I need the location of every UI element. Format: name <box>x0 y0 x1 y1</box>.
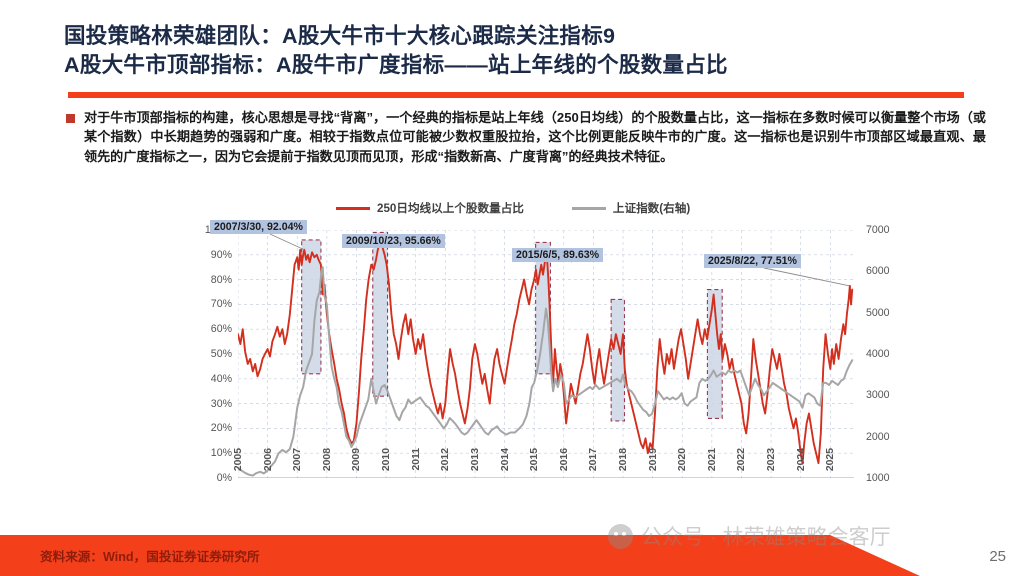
x-axis-tick: 2021 <box>707 448 718 471</box>
y-left-tick: 10% <box>211 447 232 459</box>
chart-annotation-label: 2025/8/22, 77.51% <box>704 254 801 268</box>
x-axis-tick: 2006 <box>263 448 274 471</box>
body-paragraph-block: 对于牛市顶部指标的构建，核心思想是寻找“背离”，一个经典的指标是站上年线（250… <box>66 108 986 166</box>
x-axis-tick: 2020 <box>677 448 688 471</box>
legend-label: 上证指数(右轴) <box>613 200 690 216</box>
highlight-region <box>611 299 624 421</box>
y-left-tick: 90% <box>211 249 232 261</box>
y-left-tick: 0% <box>217 472 232 484</box>
y-axis-right: 1000200030004000500060007000 <box>856 230 916 478</box>
x-axis-tick: 2017 <box>588 448 599 471</box>
y-left-tick: 50% <box>211 348 232 360</box>
y-right-tick: 2000 <box>866 431 890 443</box>
legend-item-2: 上证指数(右轴) <box>572 200 690 216</box>
chart-annotation-label: 2009/10/23, 95.66% <box>342 234 445 248</box>
legend-item-1: 250日均线以上个股数量占比 <box>336 200 524 216</box>
title-line-1: 国投策略林荣雄团队：A股大牛市十大核心跟踪关注指标9 <box>64 22 984 51</box>
chart-plot-area: 0%10%20%30%40%50%60%70%80%90%100% 100020… <box>196 230 956 478</box>
legend-swatch-icon <box>572 207 606 210</box>
y-right-tick: 5000 <box>866 307 890 319</box>
x-axis-tick: 2013 <box>470 448 481 471</box>
square-bullet-icon <box>66 114 75 123</box>
footer: 资料来源：Wind，国投证券证券研究所 25 <box>0 535 1024 576</box>
y-left-tick: 80% <box>211 274 232 286</box>
chart-legend: 250日均线以上个股数量占比上证指数(右轴) <box>336 200 690 216</box>
x-axis-tick: 2009 <box>351 448 362 471</box>
x-axis-tick: 2007 <box>292 448 303 471</box>
x-axis-tick: 2018 <box>618 448 629 471</box>
y-right-tick: 6000 <box>866 265 890 277</box>
x-axis-tick: 2005 <box>233 448 244 471</box>
chart-annotation-label: 2007/3/30, 92.04% <box>210 220 307 234</box>
x-axis-tick: 2023 <box>766 448 777 471</box>
legend-swatch-icon <box>336 207 370 210</box>
page-title: 国投策略林荣雄团队：A股大牛市十大核心跟踪关注指标9 A股大牛市顶部指标：A股牛… <box>64 22 984 80</box>
y-axis-left: 0%10%20%30%40%50%60%70%80%90%100% <box>196 230 236 478</box>
footer-source-text: 资料来源：Wind，国投证券证券研究所 <box>40 546 260 565</box>
slide-root: 国投策略林荣雄团队：A股大牛市十大核心跟踪关注指标9 A股大牛市顶部指标：A股牛… <box>0 0 1024 576</box>
y-left-tick: 40% <box>211 373 232 385</box>
title-line-2: A股大牛市顶部指标：A股牛市广度指标——站上年线的个股数量占比 <box>64 51 984 80</box>
legend-label: 250日均线以上个股数量占比 <box>377 200 524 216</box>
x-axis-tick: 2025 <box>825 448 836 471</box>
body-paragraph-text: 对于牛市顶部指标的构建，核心思想是寻找“背离”，一个经典的指标是站上年线（250… <box>84 108 986 166</box>
page-number: 25 <box>989 548 1006 565</box>
x-axis-tick: 2015 <box>529 448 540 471</box>
x-axis-tick: 2022 <box>736 448 747 471</box>
x-axis: 2005200620072008200920102011201220132014… <box>238 446 854 510</box>
x-axis-tick: 2008 <box>322 448 333 471</box>
y-right-tick: 7000 <box>866 224 890 236</box>
y-left-tick: 60% <box>211 323 232 335</box>
chart: 250日均线以上个股数量占比上证指数(右轴) 0%10%20%30%40%50%… <box>196 196 956 516</box>
y-right-tick: 3000 <box>866 389 890 401</box>
y-left-tick: 30% <box>211 398 232 410</box>
x-axis-tick: 2010 <box>381 448 392 471</box>
x-axis-tick: 2014 <box>500 448 511 471</box>
chart-annotation-label: 2015/6/5, 89.63% <box>512 248 603 262</box>
x-axis-tick: 2011 <box>411 448 422 471</box>
x-axis-tick: 2016 <box>559 448 570 471</box>
title-underline <box>68 92 964 98</box>
x-axis-tick: 2024 <box>796 448 807 471</box>
x-axis-tick: 2019 <box>648 448 659 471</box>
y-right-tick: 4000 <box>866 348 890 360</box>
x-axis-tick: 2012 <box>440 448 451 471</box>
y-left-tick: 70% <box>211 298 232 310</box>
y-left-tick: 20% <box>211 422 232 434</box>
y-right-tick: 1000 <box>866 472 890 484</box>
